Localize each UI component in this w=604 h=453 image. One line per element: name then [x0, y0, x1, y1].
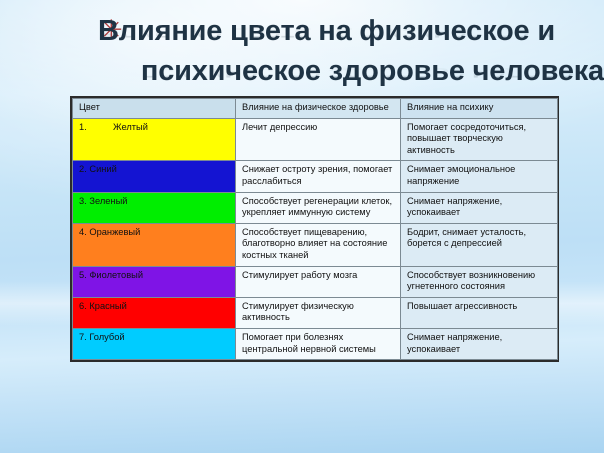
title-line-2-row: психическое здоровье человека психическо… [98, 54, 604, 94]
row-number: 5. [79, 270, 87, 282]
psychological-effect-cell: Снимает эмоциональное напряжение [401, 161, 558, 192]
psychological-effect-cell: Снимает напряжение, успокаивает [401, 328, 558, 359]
color-swatch-cell: 3. Зеленый [73, 192, 236, 223]
title-line-1-row: Влияние цвета на физическое и Влияние цв… [98, 14, 604, 54]
physical-effect-cell: Способствует регенерации клеток, укрепля… [236, 192, 401, 223]
psychological-effect-cell: Повышает агрессивность [401, 297, 558, 328]
row-number: 2. [79, 164, 87, 176]
slide-canvas: ✳ Влияние цвета на физическое и Влияние … [0, 0, 604, 453]
color-name-label: Голубой [89, 332, 124, 344]
color-name-label: Желтый [113, 122, 148, 134]
psychological-effect-cell: Способствует возникновению угнетенного с… [401, 266, 558, 297]
physical-effect-cell: Стимулирует физическую активность [236, 297, 401, 328]
page-title-line-1: Влияние цвета на физическое и [98, 14, 604, 48]
color-swatch-cell: 1.Желтый [73, 118, 236, 161]
psychological-effect-cell: Бодрит, снимает усталость, борется с деп… [401, 223, 558, 266]
row-number: 1. [79, 122, 113, 134]
color-swatch-cell: 2. Синий [73, 161, 236, 192]
page-title-line-2: психическое здоровье человека [98, 54, 604, 88]
table-row: 2. СинийСнижает остроту зрения, помогает… [73, 161, 558, 192]
table-row: 1.ЖелтыйЛечит депрессиюПомогает сосредот… [73, 118, 558, 161]
color-swatch-cell: 5. Фиолетовый [73, 266, 236, 297]
color-name-label: Красный [89, 301, 126, 313]
color-effects-table: Цвет Влияние на физическое здоровье Влия… [72, 98, 558, 360]
color-swatch-cell: 4. Оранжевый [73, 223, 236, 266]
table-row: 5. ФиолетовыйСтимулирует работу мозгаСпо… [73, 266, 558, 297]
psychological-effect-cell: Снимает напряжение, успокаивает [401, 192, 558, 223]
color-name-label: Зеленый [89, 196, 127, 208]
row-number: 7. [79, 332, 87, 344]
slide-title: Влияние цвета на физическое и Влияние цв… [98, 14, 604, 94]
row-number: 4. [79, 227, 87, 239]
physical-effect-cell: Способствует пищеварению, благотворно вл… [236, 223, 401, 266]
physical-effect-cell: Стимулирует работу мозга [236, 266, 401, 297]
color-effects-table-container: Цвет Влияние на физическое здоровье Влия… [70, 96, 559, 362]
physical-effect-cell: Снижает остроту зрения, помогает расслаб… [236, 161, 401, 192]
column-header-psychological: Влияние на психику [401, 99, 558, 119]
color-name-label: Оранжевый [89, 227, 140, 239]
row-number: 3. [79, 196, 87, 208]
table-row: 4. ОранжевыйСпособствует пищеварению, бл… [73, 223, 558, 266]
table-row: 7. ГолубойПомогает при болезнях централь… [73, 328, 558, 359]
color-name-label: Синий [89, 164, 116, 176]
table-row: 3. ЗеленыйСпособствует регенерации клето… [73, 192, 558, 223]
table-row: 6. КрасныйСтимулирует физическую активно… [73, 297, 558, 328]
color-swatch-cell: 7. Голубой [73, 328, 236, 359]
column-header-color: Цвет [73, 99, 236, 119]
physical-effect-cell: Помогает при болезнях центральной нервно… [236, 328, 401, 359]
table-header-row: Цвет Влияние на физическое здоровье Влия… [73, 99, 558, 119]
table-header: Цвет Влияние на физическое здоровье Влия… [73, 99, 558, 119]
column-header-physical: Влияние на физическое здоровье [236, 99, 401, 119]
table-body: 1.ЖелтыйЛечит депрессиюПомогает сосредот… [73, 118, 558, 360]
color-name-label: Фиолетовый [89, 270, 143, 282]
row-number: 6. [79, 301, 87, 313]
psychological-effect-cell: Помогает сосредоточиться, повышает творч… [401, 118, 558, 161]
physical-effect-cell: Лечит депрессию [236, 118, 401, 161]
color-swatch-cell: 6. Красный [73, 297, 236, 328]
